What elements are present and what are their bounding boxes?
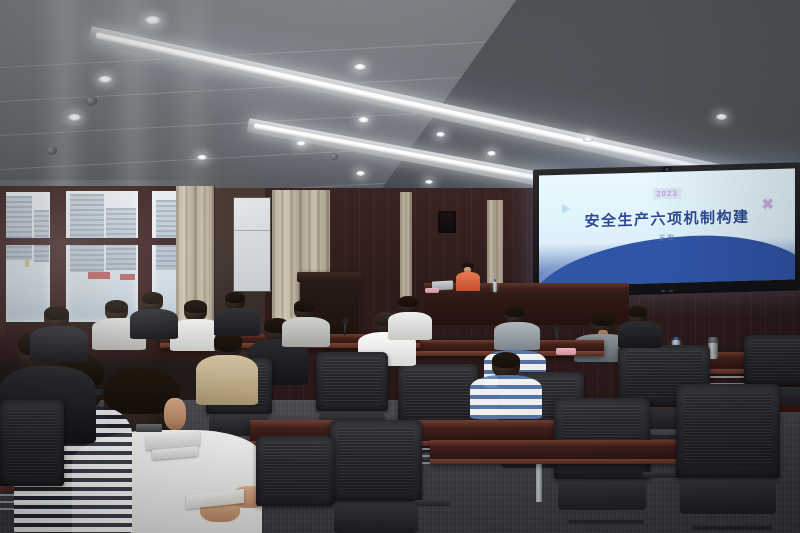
downlight xyxy=(716,114,727,120)
conference-room-photo: ✖ 2023 安全生产六项机制构建 王安 xyxy=(0,0,800,533)
desk-row-front-right xyxy=(430,440,690,464)
presenter-folder xyxy=(425,288,439,293)
microphone xyxy=(344,322,346,335)
attendee-row-left-far xyxy=(130,292,178,336)
torso xyxy=(130,309,178,339)
torso xyxy=(618,321,662,348)
attendee-row-center-2 xyxy=(282,300,330,344)
chair-foreground-right[interactable] xyxy=(256,436,334,533)
torso xyxy=(282,317,330,347)
downlight xyxy=(68,114,81,121)
downlight xyxy=(197,155,207,160)
slide-year-badge: 2023 xyxy=(653,187,681,199)
attendee-row-center-far xyxy=(214,292,260,334)
city-building xyxy=(70,194,104,272)
wall-whiteboard xyxy=(233,197,271,292)
downlight xyxy=(583,137,593,142)
torso xyxy=(214,308,260,336)
torso xyxy=(30,326,88,362)
notebook-pink xyxy=(556,348,576,355)
play-triangle-icon xyxy=(562,204,570,214)
downlight xyxy=(144,16,161,25)
face xyxy=(164,398,186,430)
smoke-detector-icon xyxy=(330,153,338,160)
slide-author: 王安 xyxy=(659,233,676,243)
chair-right-near[interactable] xyxy=(676,384,780,514)
presenter xyxy=(455,262,481,290)
chair-foreground-left[interactable] xyxy=(0,400,64,520)
wall-speaker-icon xyxy=(438,211,456,233)
water-bottle xyxy=(493,282,497,292)
downlight xyxy=(358,117,369,123)
x-mark-icon: ✖ xyxy=(762,198,775,211)
slide-canvas: ✖ 2023 安全生产六项机制构建 王安 xyxy=(539,168,795,286)
chair-row2[interactable] xyxy=(330,420,422,533)
head xyxy=(184,300,207,321)
downlight xyxy=(425,180,433,184)
phone xyxy=(136,424,162,432)
attendee-white-shirt-mid xyxy=(470,352,542,416)
curtain-near-screen xyxy=(487,200,503,290)
attendee-row-left-back xyxy=(30,306,88,360)
smoke-detector-icon xyxy=(46,146,57,155)
downlight xyxy=(356,171,365,176)
city-building xyxy=(34,210,49,262)
city-building xyxy=(6,196,32,260)
torso xyxy=(470,375,542,419)
torso xyxy=(494,322,540,350)
presentation-display[interactable]: ✖ 2023 安全生产六项机制构建 王安 xyxy=(533,162,800,297)
downlight xyxy=(487,151,496,156)
curtain-right-of-podium xyxy=(400,192,412,302)
attendee-row-right-far xyxy=(388,296,432,338)
downlight xyxy=(354,64,366,70)
slide-title: 安全生产六项机制构建 xyxy=(584,205,749,231)
torso xyxy=(388,312,432,340)
downlight xyxy=(98,76,112,83)
downlight xyxy=(296,141,306,146)
torso xyxy=(456,272,480,291)
attendee-row-right-3 xyxy=(618,306,662,346)
downlight xyxy=(436,132,445,137)
smoke-detector-icon xyxy=(85,96,97,106)
attendee-row-right-2 xyxy=(494,306,540,348)
